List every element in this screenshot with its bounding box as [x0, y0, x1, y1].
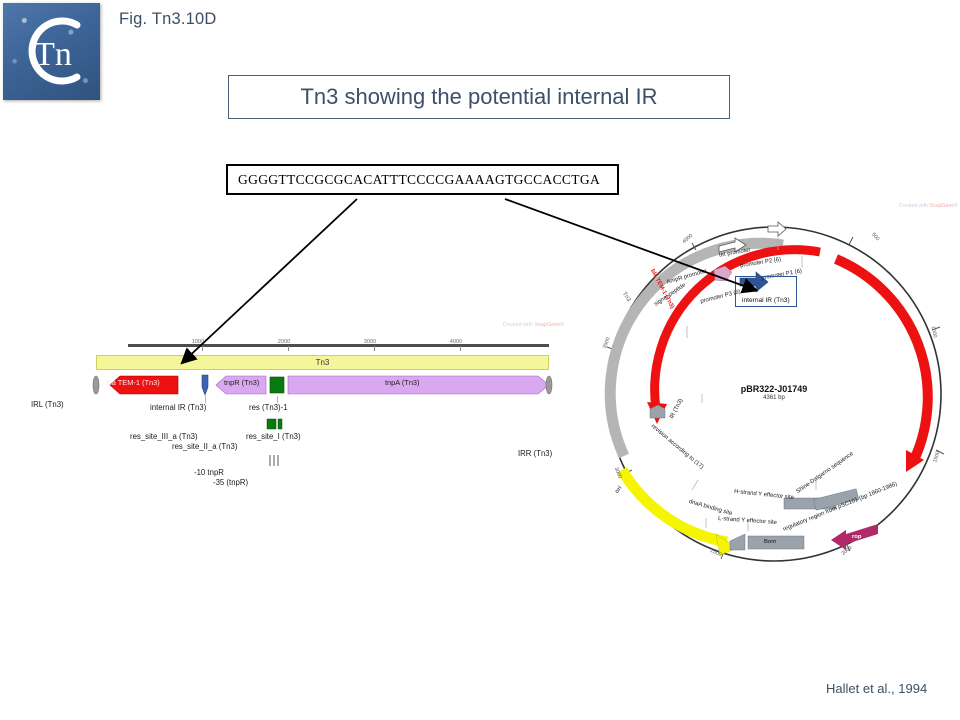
- feature-label-tnpr: tnpR (Tn3): [224, 378, 259, 387]
- logo-text: Tn: [34, 36, 72, 73]
- feature-irl-shape: [93, 376, 99, 394]
- figure-label: Fig. Tn3.10D: [119, 10, 216, 29]
- page-title: Tn3 showing the potential internal IR: [300, 84, 657, 110]
- plasmid-name: pBR322-J01749: [588, 384, 960, 394]
- ruler-tick-2000: [288, 346, 289, 351]
- ruler-tick-4000: [460, 346, 461, 351]
- plasmid-center-label: pBR322-J01749 4361 bp: [588, 384, 960, 401]
- plasmid-size: 4361 bp: [588, 395, 960, 401]
- feature-label-bla-tem1: bla TEM-1 (Tn3): [106, 378, 160, 387]
- linear-tn3-map: Created with SnapGene® 1000 2000 3000 40…: [30, 322, 570, 482]
- feature-label-internal-ir: internal IR (Tn3): [150, 403, 206, 412]
- snapgene-brand: SnapGene: [534, 322, 560, 328]
- ruler-label-4000: 4000: [450, 339, 462, 345]
- feature-res-tn3-1-shape: [270, 377, 284, 393]
- label-res-site-II-a: res_site_II_a (Tn3): [172, 442, 237, 451]
- tn3-span-bar: Tn3: [96, 355, 549, 370]
- ruler-label-1000: 1000: [192, 339, 204, 345]
- res-site-I-shape: [278, 419, 282, 429]
- label-minus35-tnpr: -35 (tnpR): [213, 478, 248, 487]
- snapgene-watermark-linear: Created with SnapGene®: [503, 322, 564, 328]
- plasmid-label-bom: Bom: [764, 539, 776, 545]
- tet-promoter-flag: [768, 222, 786, 236]
- feature-label-res-tn3-1: res (Tn3)-1: [249, 403, 288, 412]
- promoter-ticks: [30, 455, 570, 469]
- ruler-tick-3000: [374, 346, 375, 351]
- dna-sequence-box: GGGGTTCCGCGCACATTTCCCCGAAAAGTGCCACCTGA: [226, 164, 619, 195]
- plasmid-map: Created with SnapGene®: [588, 198, 960, 570]
- dna-sequence-text: GGGGTTCCGCGCACATTTCCCCGAAAAGTGCCACCTGA: [238, 172, 600, 188]
- ruler-label-3000: 3000: [364, 339, 376, 345]
- snapgene-brand-plasmid: SnapGene: [929, 203, 954, 209]
- snapgene-watermark-plasmid: Created with SnapGene®: [899, 203, 958, 209]
- label-res-site-I: res_site_I (Tn3): [246, 432, 301, 441]
- ruler-tick-1000: [202, 346, 203, 351]
- feature-bom-arrow: [730, 534, 745, 550]
- leader-res-tn3-1: [277, 396, 278, 403]
- slide-title-box: Tn3 showing the potential internal IR: [228, 75, 730, 119]
- internal-ir-callout-label: internal IR (Tn3): [742, 297, 790, 304]
- ruler-label-2000: 2000: [278, 339, 290, 345]
- label-minus10-tnpr: -10 tnpR: [194, 468, 224, 477]
- res-site-III-a-shape: [267, 419, 276, 429]
- feature-rop-arrowhead: [831, 530, 846, 550]
- feature-irr-shape: [546, 376, 552, 394]
- feature-label-irl: IRL (Tn3): [31, 400, 64, 409]
- plasmid-label-rop: rop: [852, 534, 862, 540]
- label-res-site-III-a: res_site_III_a (Tn3): [130, 432, 198, 441]
- leader-internal-ir: [205, 396, 206, 403]
- ctn-logo: Tn: [3, 3, 100, 100]
- feature-label-tnpa: tnpA (Tn3): [385, 378, 420, 387]
- res-subsites-track: [30, 418, 570, 430]
- feature-tcr-arc: [836, 259, 928, 460]
- tn3-span-label: Tn3: [316, 358, 330, 367]
- citation-footer: Hallet et al., 1994: [826, 681, 927, 696]
- feature-internal-ir-shape: [202, 375, 208, 395]
